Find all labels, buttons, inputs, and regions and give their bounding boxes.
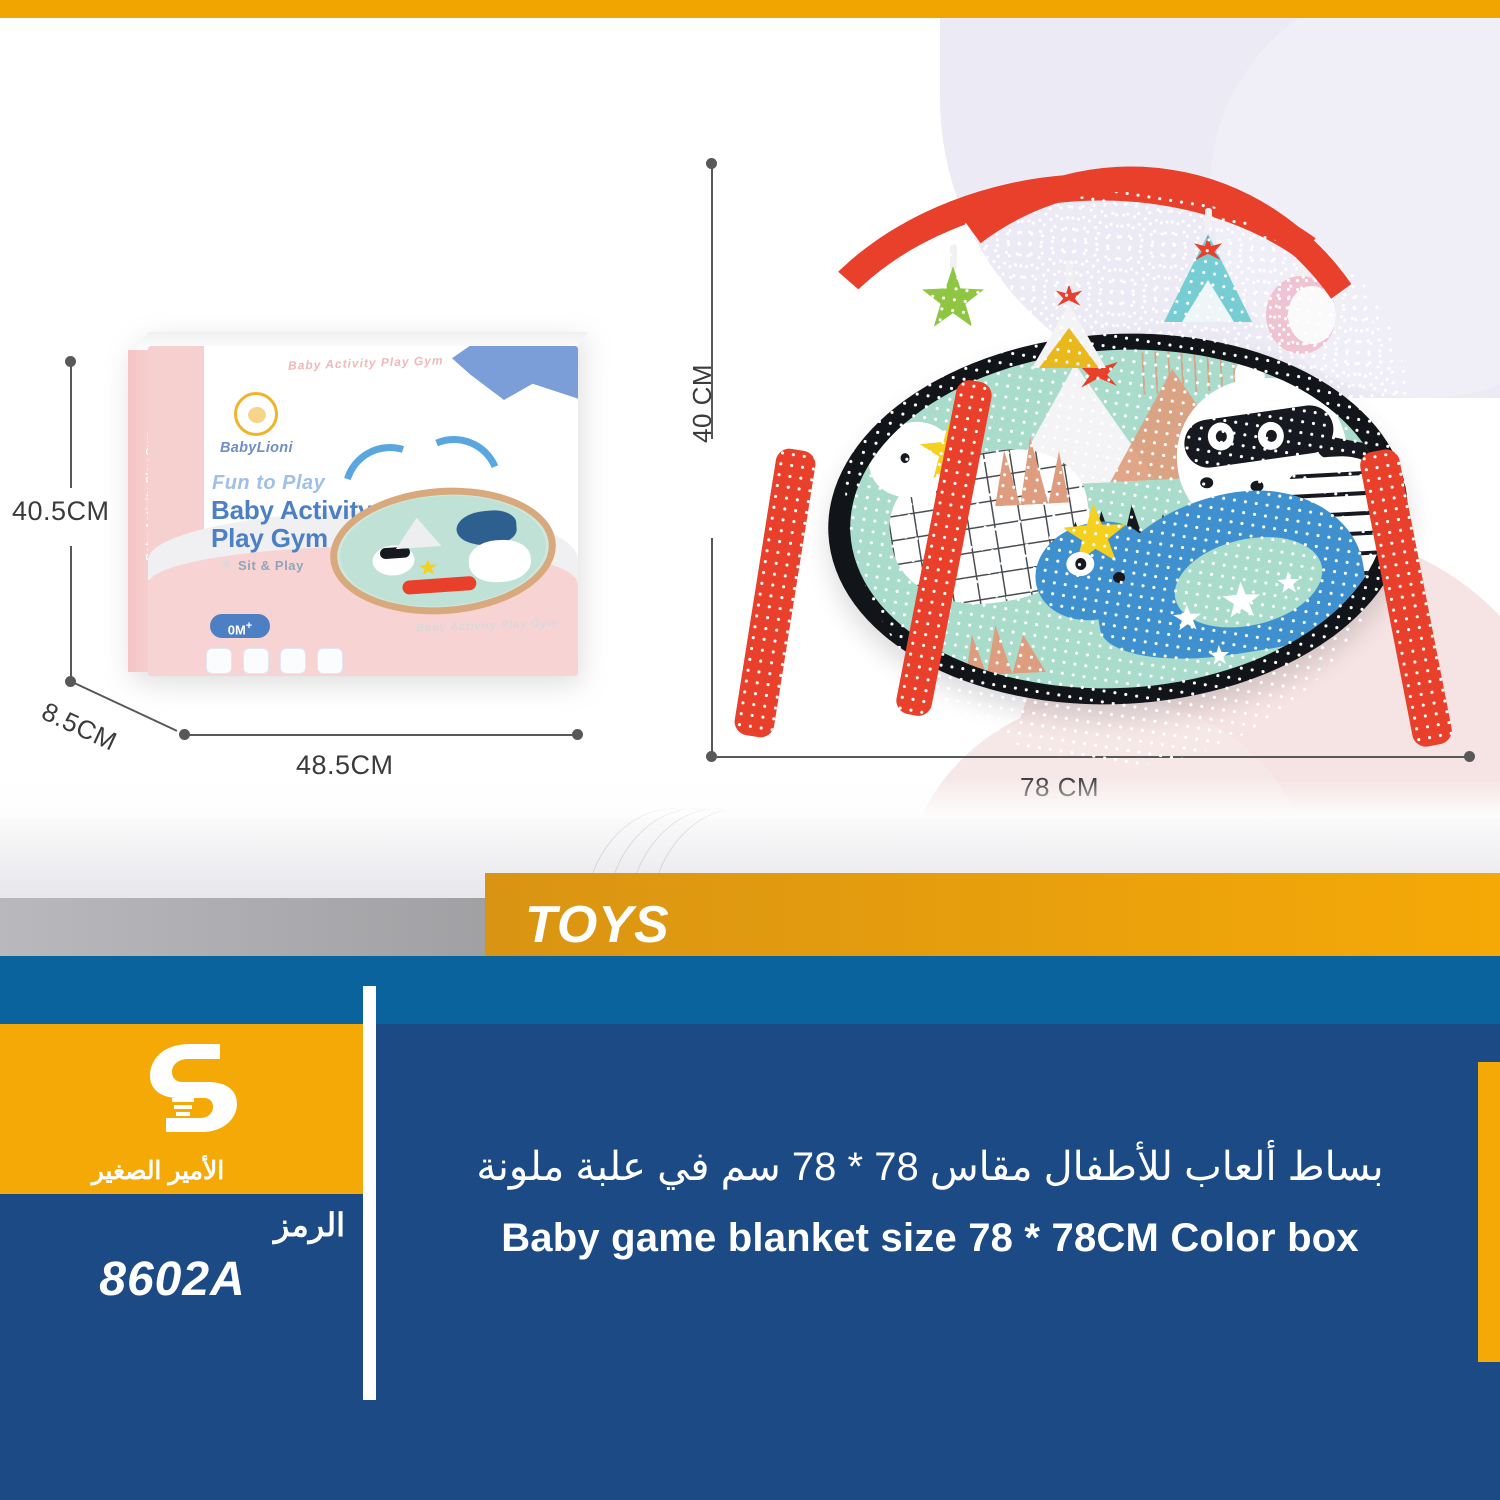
package-dimension-diagram: 40.5CM 8.5CM 48.5CM Baby Activity Play G… — [40, 318, 640, 758]
brand-arabic-name: الأمير الصغير — [8, 1156, 308, 1186]
age-badge-plus: + — [246, 620, 252, 632]
gym-height-line-lower — [711, 538, 713, 756]
card-bottom-fade — [0, 778, 1500, 818]
width-dim-line — [188, 734, 578, 736]
box-tagline: Fun to Play — [212, 472, 325, 495]
width-dim-dot-right — [572, 729, 583, 740]
product-code: 8602A — [0, 1252, 345, 1307]
product-photo-diagram: 40 CM 78 CM — [690, 138, 1480, 798]
gym-height-dot-top — [706, 158, 717, 169]
height-dim-line-upper — [70, 363, 72, 488]
category-label: TOYS — [525, 895, 670, 955]
footer-teal-bar — [0, 956, 1500, 1024]
babylioni-brand: BabyLioni — [220, 392, 293, 456]
toy-icon: Detachable toys — [280, 648, 306, 674]
gym-height-dot-bottom — [706, 751, 717, 762]
box-blue-corner-shape — [452, 346, 578, 400]
box-depth-label: 8.5CM — [37, 696, 122, 758]
wash-icon: Easily washable — [317, 648, 343, 674]
product-sheet: 40.5CM 8.5CM 48.5CM Baby Activity Play G… — [0, 0, 1500, 1500]
top-orange-strip — [0, 0, 1500, 18]
footer-vertical-divider — [363, 986, 376, 1400]
brand-logo-block: الأمير الصغير — [0, 1024, 363, 1194]
box-front-face: Baby Activity Play Gym BabyLioni Fun to … — [148, 346, 578, 676]
mini-mountain — [394, 516, 442, 549]
footer-right-accent — [1478, 1062, 1500, 1362]
description-arabic: بساط ألعاب للأطفال مقاس 78 * 78 سم في عل… — [400, 1140, 1460, 1194]
al-amir-al-sagheer-logo — [116, 1036, 246, 1136]
play-gym-photo — [750, 148, 1470, 748]
description-english: Baby game blanket size 78 * 78CM Color b… — [400, 1216, 1460, 1261]
lion-head-icon — [234, 392, 278, 436]
mini-red-dino — [402, 576, 477, 595]
retail-box: Baby Activity Play Gym Baby Activity Pla… — [120, 328, 590, 678]
mini-yellow-star — [419, 558, 438, 575]
height-dim-line-lower — [70, 546, 72, 681]
age-badge-text: 0M — [228, 622, 246, 637]
code-label: الرمز — [0, 1206, 345, 1244]
gym-height-label: 40 CM — [687, 364, 718, 443]
box-ghost-title: Baby Activity Play Gym — [288, 353, 444, 372]
sparkle-icon: ✳ — [220, 556, 234, 570]
box-subtitle: Sit & Play — [238, 558, 304, 573]
star-icon: Ergonomic design — [206, 648, 232, 674]
mini-white-dino — [467, 538, 532, 584]
brand-name: BabyLioni — [220, 440, 293, 456]
baby-icon: Safe materials — [243, 648, 269, 674]
feature-icon-row: Ergonomic design Safe materials Detachab… — [206, 648, 343, 674]
gym-width-dot-right — [1464, 751, 1475, 762]
box-product-illustration — [320, 426, 560, 616]
box-width-label: 48.5CM — [296, 750, 394, 781]
age-badge: 0M+ — [210, 614, 270, 638]
height-dim-dot-top — [65, 356, 76, 367]
product-image-card: 40.5CM 8.5CM 48.5CM Baby Activity Play G… — [0, 18, 1500, 818]
arch-leg-left — [733, 447, 818, 740]
box-height-label: 40.5CM — [12, 496, 110, 527]
